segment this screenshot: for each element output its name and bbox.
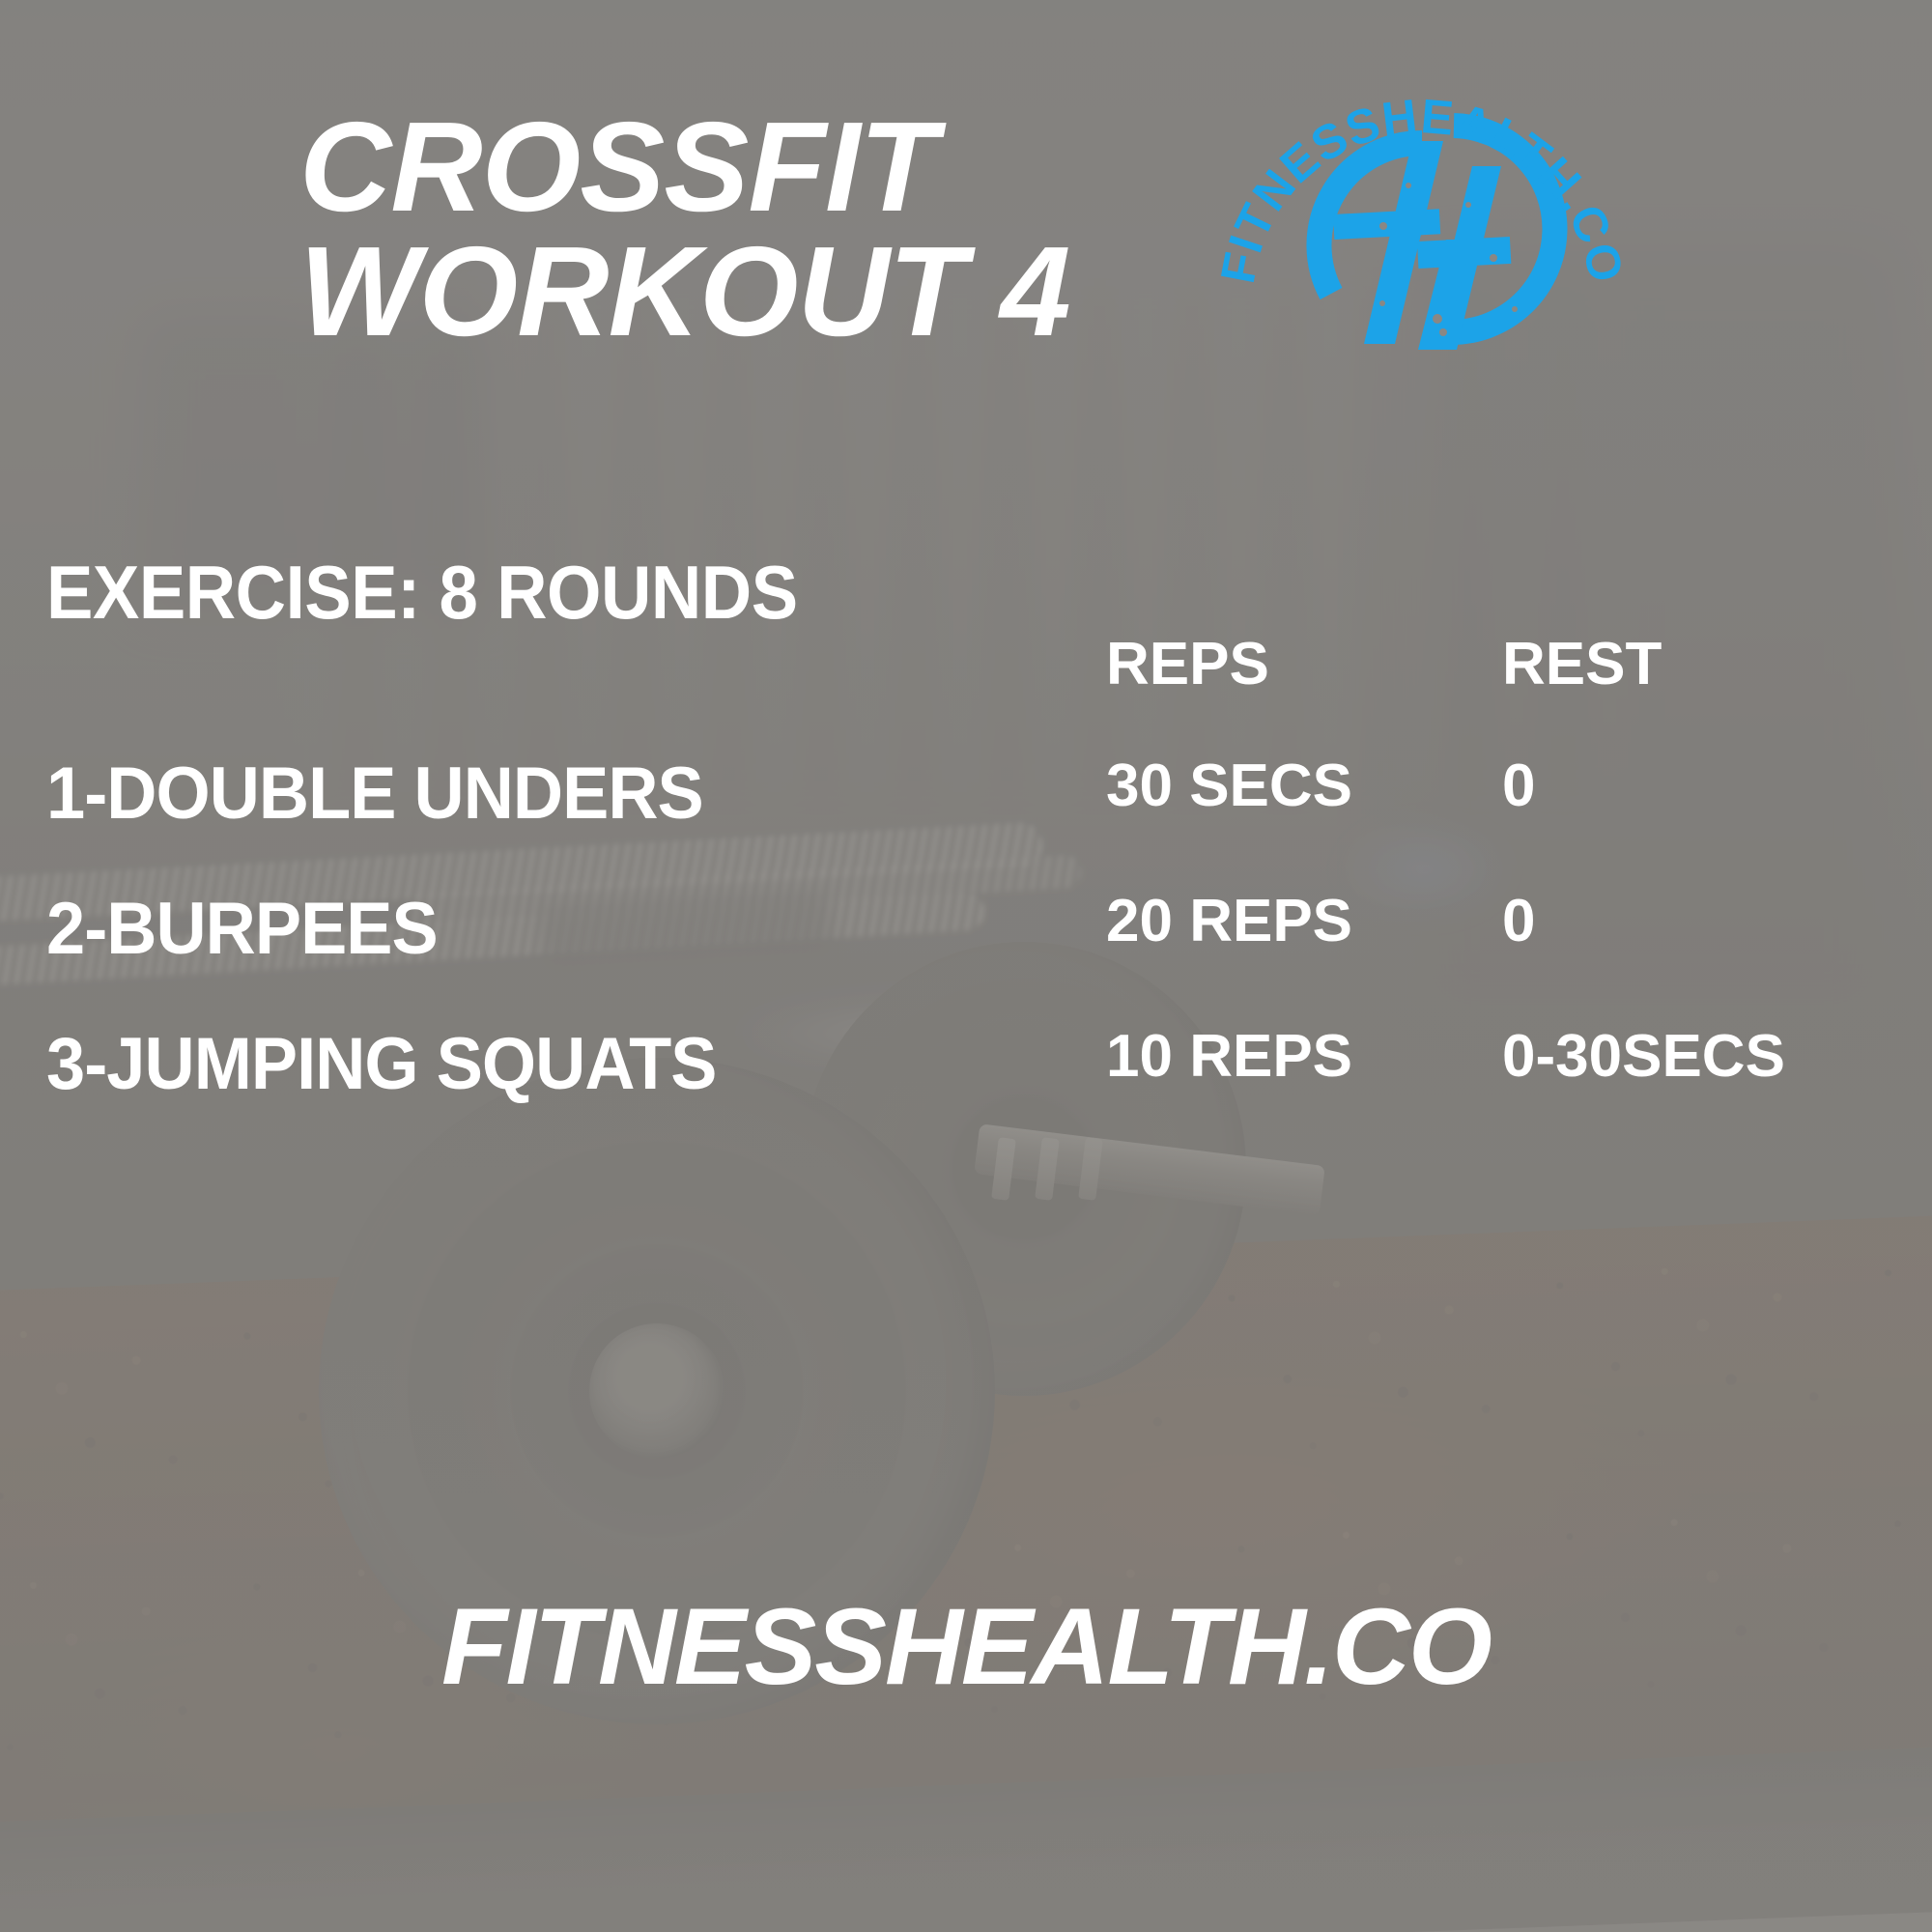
table-row: 1-DOUBLE UNDERS 30 SECS 0 <box>0 752 1932 858</box>
title-line-2: WORKOUT 4 <box>299 229 1265 354</box>
exercise-heading: EXERCISE: 8 ROUNDS <box>46 549 798 637</box>
fitnesshealth-logo: FITNESSHEALTH.CO <box>1219 60 1625 350</box>
exercise-reps: 30 SECS <box>1106 752 1352 820</box>
exercise-reps: 10 REPS <box>1106 1022 1352 1091</box>
page-title: CROSSFIT WORKOUT 4 <box>299 104 1265 355</box>
title-line-1: CROSSFIT <box>299 104 1265 229</box>
table-row: 3-JUMPING SQUATS 10 REPS 0-30SECS <box>0 1022 1932 1128</box>
footer-brand: FITNESSHEALTH.CO <box>0 1584 1932 1709</box>
exercise-name: 1-DOUBLE UNDERS <box>46 752 703 836</box>
exercise-reps: 20 REPS <box>1106 887 1352 955</box>
table-row: 2-BURPEES 20 REPS 0 <box>0 887 1932 993</box>
column-header-rest: REST <box>1502 630 1662 698</box>
column-header-reps: REPS <box>1106 630 1269 698</box>
exercise-name: 2-BURPEES <box>46 887 438 971</box>
workout-poster: CROSSFIT WORKOUT 4 <box>0 0 1932 1932</box>
exercise-rest: 0 <box>1502 887 1535 955</box>
poster-content: CROSSFIT WORKOUT 4 <box>0 0 1932 1932</box>
exercise-name: 3-JUMPING SQUATS <box>46 1022 717 1106</box>
exercise-rest: 0-30SECS <box>1502 1022 1785 1091</box>
exercise-rest: 0 <box>1502 752 1535 820</box>
